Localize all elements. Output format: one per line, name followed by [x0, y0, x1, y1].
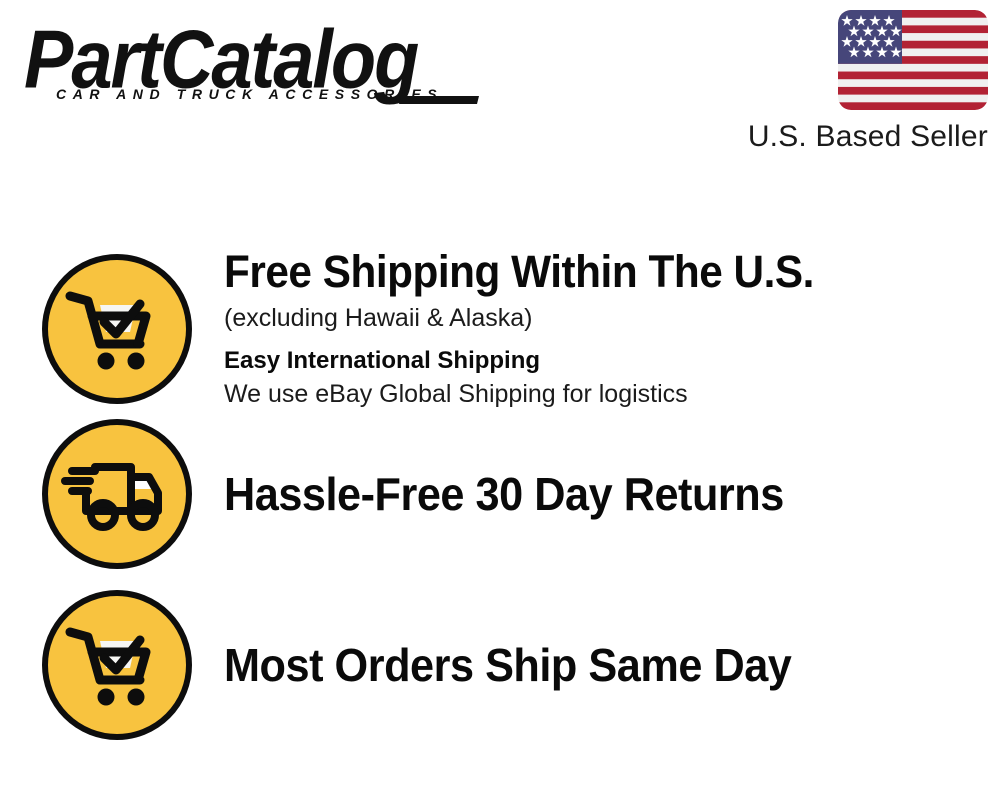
feature-badge-free-shipping — [42, 254, 192, 404]
us-flag-icon — [838, 10, 988, 110]
page-header: PartCatalog CAR AND TRUCK ACCESSORIES — [0, 0, 1000, 180]
feature-text: Hassle-Free 30 Day Returns — [224, 467, 1000, 521]
feature-row: Hassle-Free 30 Day Returns — [0, 419, 1000, 569]
feature-row: Free Shipping Within The U.S. (excluding… — [0, 247, 1000, 411]
feature-badge-returns — [42, 419, 192, 569]
brand-tagline: CAR AND TRUCK ACCESSORIES — [56, 86, 443, 102]
feature-row: Most Orders Ship Same Day — [0, 590, 1000, 740]
shopping-cart-check-icon — [48, 260, 186, 398]
feature-title: Most Orders Ship Same Day — [224, 638, 935, 692]
feature-badge-same-day — [42, 590, 192, 740]
seller-location-label: U.S. Based Seller — [748, 118, 988, 156]
feature-text: Most Orders Ship Same Day — [224, 638, 1000, 692]
us-flag — [838, 10, 988, 110]
feature-subtitle-strong: Easy International Shipping — [224, 345, 980, 377]
feature-title: Hassle-Free 30 Day Returns — [224, 467, 935, 521]
shopping-cart-check-icon — [48, 596, 186, 734]
feature-subtitle-detail: We use eBay Global Shipping for logistic… — [224, 378, 980, 411]
feature-subtitle: (excluding Hawaii & Alaska) — [224, 301, 980, 335]
brand-underline-accent — [399, 96, 479, 104]
feature-text: Free Shipping Within The U.S. (excluding… — [224, 247, 1000, 411]
feature-title: Free Shipping Within The U.S. — [224, 247, 935, 297]
delivery-truck-icon — [48, 425, 186, 563]
